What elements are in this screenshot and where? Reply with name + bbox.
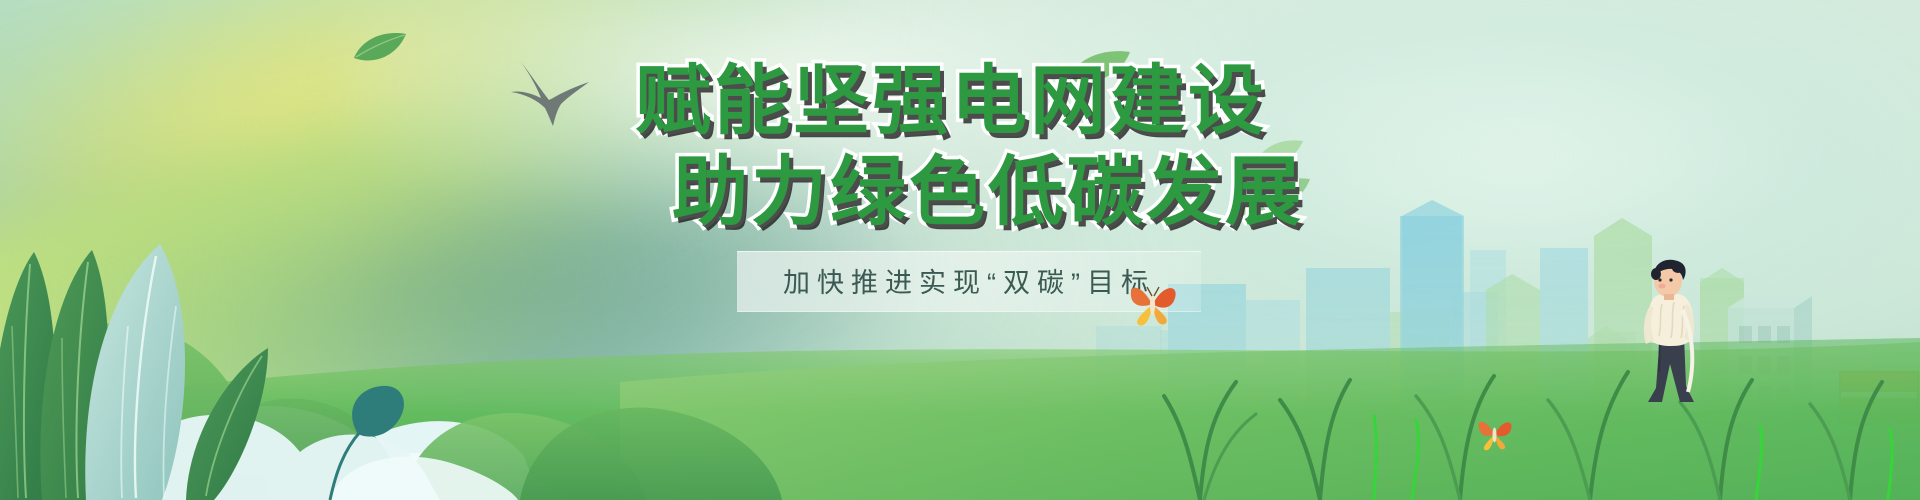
title-line-2: 助力绿色低碳发展: [672, 153, 1304, 234]
title-block: 赋能坚强电网建设 助力绿色低碳发展 加快推进实现“双碳”目标: [0, 62, 1920, 312]
stem-leaf: [330, 386, 404, 500]
butterfly-icon: [1475, 415, 1515, 451]
subtitle-text: 加快推进实现“双碳”目标: [783, 261, 1155, 300]
banner-root: 赋能坚强电网建设 助力绿色低碳发展 加快推进实现“双碳”目标: [0, 0, 1920, 500]
swallow-bird-icon: [505, 60, 591, 128]
title-line-1: 赋能坚强电网建设: [635, 62, 1267, 143]
flying-leaf-icon: [352, 30, 408, 66]
butterfly-icon: [1125, 278, 1181, 328]
